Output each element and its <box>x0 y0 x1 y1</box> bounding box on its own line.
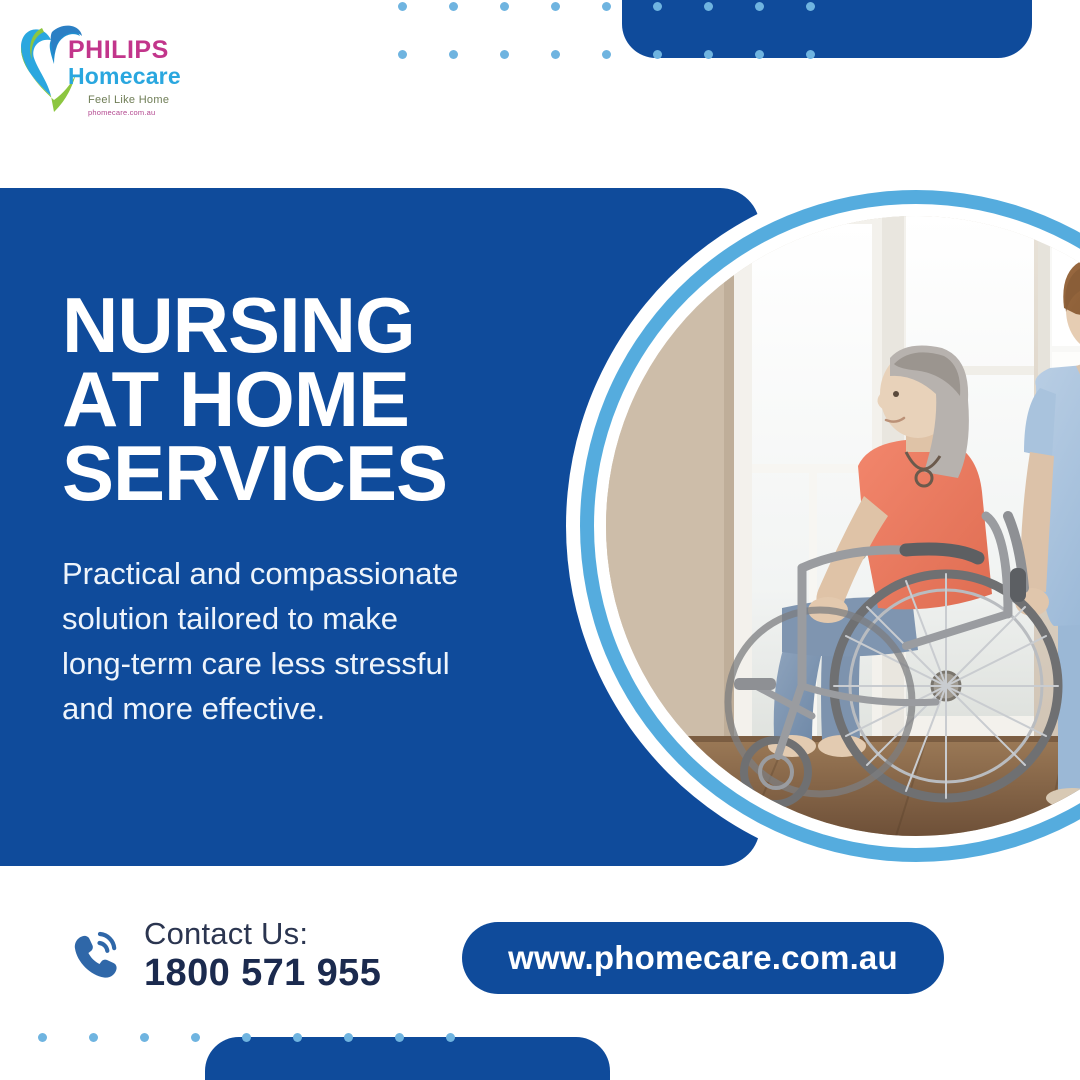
contact-block: Contact Us: 1800 571 955 <box>70 918 381 993</box>
dot <box>602 2 611 11</box>
website-button-label: www.phomecare.com.au <box>508 939 898 977</box>
accent-shape-bottom <box>205 1037 610 1080</box>
accent-shape-top-right <box>622 0 1032 58</box>
phone-ringing-icon <box>70 930 122 982</box>
logo-wordmark: PHILIPS Homecare Feel Like Home phomecar… <box>68 38 198 117</box>
dot <box>89 1033 98 1042</box>
contact-label: Contact Us: <box>144 918 381 951</box>
subcopy-line-1: Practical and compassionate <box>62 552 562 597</box>
dot <box>38 1033 47 1042</box>
contact-phone-number[interactable]: 1800 571 955 <box>144 954 381 994</box>
hero-photo <box>606 216 1080 836</box>
logo-name-secondary: Homecare <box>68 64 198 89</box>
brand-logo[interactable]: PHILIPS Homecare Feel Like Home phomecar… <box>18 22 198 132</box>
headline-line-2: AT HOME <box>62 362 562 436</box>
dot <box>191 1033 200 1042</box>
website-button[interactable]: www.phomecare.com.au <box>462 922 944 994</box>
dot <box>398 2 407 11</box>
dot <box>602 50 611 59</box>
headline-line-1: NURSING <box>62 288 562 362</box>
dot <box>140 1033 149 1042</box>
hero-text-group: NURSING AT HOME SERVICES Practical and c… <box>62 288 562 732</box>
hero-subcopy: Practical and compassionate solution tai… <box>62 552 562 732</box>
dot <box>398 50 407 59</box>
hero-photo-illustration <box>606 216 1080 836</box>
dot <box>551 50 560 59</box>
headline-line-3: SERVICES <box>62 436 562 510</box>
poster-canvas: NURSING AT HOME SERVICES Practical and c… <box>0 0 1080 1080</box>
logo-tagline: Feel Like Home <box>88 94 198 106</box>
logo-url: phomecare.com.au <box>88 108 198 117</box>
page-title: NURSING AT HOME SERVICES <box>62 288 562 510</box>
dot <box>551 2 560 11</box>
logo-name-primary: PHILIPS <box>68 38 198 63</box>
dot <box>500 50 509 59</box>
subcopy-line-4: and more effective. <box>62 687 562 732</box>
subcopy-line-2: solution tailored to make <box>62 597 562 642</box>
contact-text-group: Contact Us: 1800 571 955 <box>144 918 381 993</box>
subcopy-line-3: long-term care less stressful <box>62 642 562 687</box>
dot <box>449 2 458 11</box>
dot <box>449 50 458 59</box>
dot <box>500 2 509 11</box>
